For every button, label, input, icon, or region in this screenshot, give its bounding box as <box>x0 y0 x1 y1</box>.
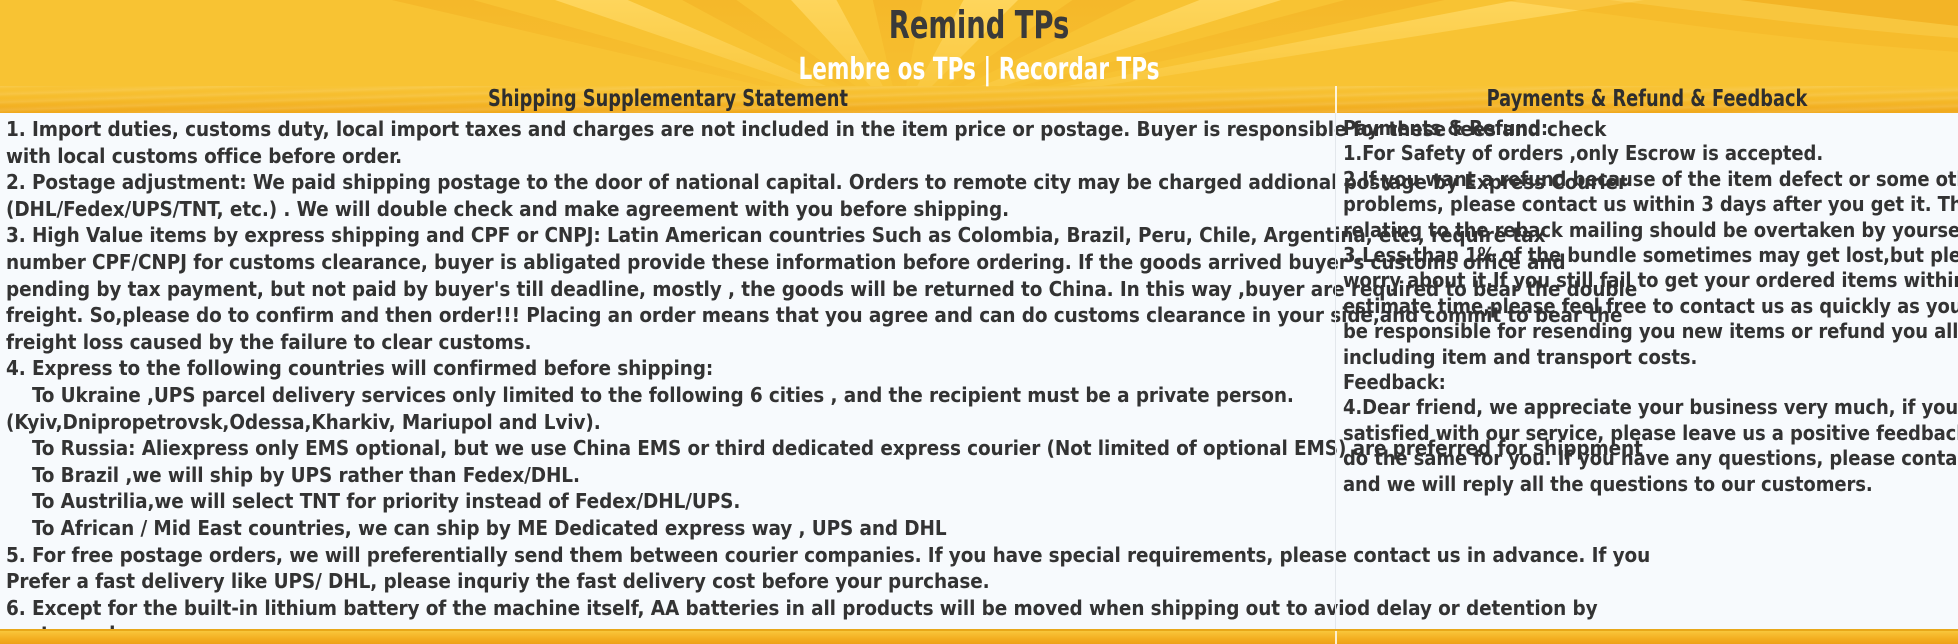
right-column-payments-refund-feedback: Payments & Refund: 1.For Safety of order… <box>1337 113 1958 497</box>
column-separator <box>1335 113 1336 631</box>
right-line: Payments & Refund: <box>1343 116 1950 141</box>
header-strip-divider <box>1335 86 1337 113</box>
left-line: pending by tax payment, but not paid by … <box>6 276 1329 303</box>
bottom-accent-bar <box>0 631 1958 644</box>
right-column-header: Payments & Refund & Feedback <box>1380 86 1915 113</box>
right-line: 4.Dear friend, we appreciate your busine… <box>1343 395 1950 420</box>
bottom-bar-seam <box>1335 631 1337 644</box>
left-line: To Ukraine ,UPS parcel delivery services… <box>6 382 1329 409</box>
banner-title: Remind TPs <box>196 2 1762 48</box>
left-line: (Kyiv,Dnipropetrovsk,Odessa,Kharkiv, Mar… <box>6 409 1329 436</box>
left-line: 2. Postage adjustment: We paid shipping … <box>6 169 1329 196</box>
left-line: number CPF/CNPJ for customs clearance, b… <box>6 249 1329 276</box>
left-line: (DHL/Fedex/UPS/TNT, etc.) . We will doub… <box>6 196 1329 223</box>
body-area: 1. Import duties, customs duty, local im… <box>0 113 1958 631</box>
remind-tps-banner-page: Remind TPs Lembre os TPs | Recordar TPs … <box>0 0 1958 644</box>
right-line: worry about it.If you still fail to get … <box>1343 268 1950 293</box>
left-column-shipping-statement: 1. Import duties, customs duty, local im… <box>0 113 1335 644</box>
left-column-header: Shipping Supplementary Statement <box>94 86 1243 113</box>
left-line: freight loss caused by the failure to cl… <box>6 329 1329 356</box>
right-line: including item and transport costs. <box>1343 345 1950 370</box>
section-header-strip: Shipping Supplementary Statement Payment… <box>0 86 1958 113</box>
right-line: satisfied with our service, please leave… <box>1343 421 1950 446</box>
right-line: and we will reply all the questions to o… <box>1343 472 1950 497</box>
left-line: with local customs office before order. <box>6 143 1329 170</box>
right-line: do the same for you. If you have any que… <box>1343 446 1950 471</box>
right-line: problems, please contact us within 3 day… <box>1343 192 1950 217</box>
banner-subtitle: Lembre os TPs | Recordar TPs <box>196 52 1762 88</box>
left-line: 6. Except for the built-in lithium batte… <box>6 595 1329 622</box>
right-line: be responsible for resending you new ite… <box>1343 319 1950 344</box>
right-line: 3.Less than 1% of the bundle sometimes m… <box>1343 243 1950 268</box>
left-line: 5. For free postage orders, we will pref… <box>6 542 1329 569</box>
right-line: 2.If you want a refund because of the it… <box>1343 167 1950 192</box>
left-line: To Brazil ,we will ship by UPS rather th… <box>6 462 1329 489</box>
left-line: 1. Import duties, customs duty, local im… <box>6 116 1329 143</box>
left-line: To African / Mid East countries, we can … <box>6 515 1329 542</box>
right-line: relating to the reback mailing should be… <box>1343 218 1950 243</box>
left-line: To Austrilia,we will select TNT for prio… <box>6 488 1329 515</box>
left-line: To Russia: Aliexpress only EMS optional,… <box>6 435 1329 462</box>
right-line: estimate time,please feel free to contac… <box>1343 294 1950 319</box>
right-line: 1.For Safety of orders ,only Escrow is a… <box>1343 141 1950 166</box>
left-line: freight. So,please do to confirm and the… <box>6 302 1329 329</box>
left-line: 3. High Value items by express shipping … <box>6 222 1329 249</box>
right-line: Feedback: <box>1343 370 1950 395</box>
left-line: 4. Express to the following countries wi… <box>6 355 1329 382</box>
left-line: Prefer a fast delivery like UPS/ DHL, pl… <box>6 568 1329 595</box>
